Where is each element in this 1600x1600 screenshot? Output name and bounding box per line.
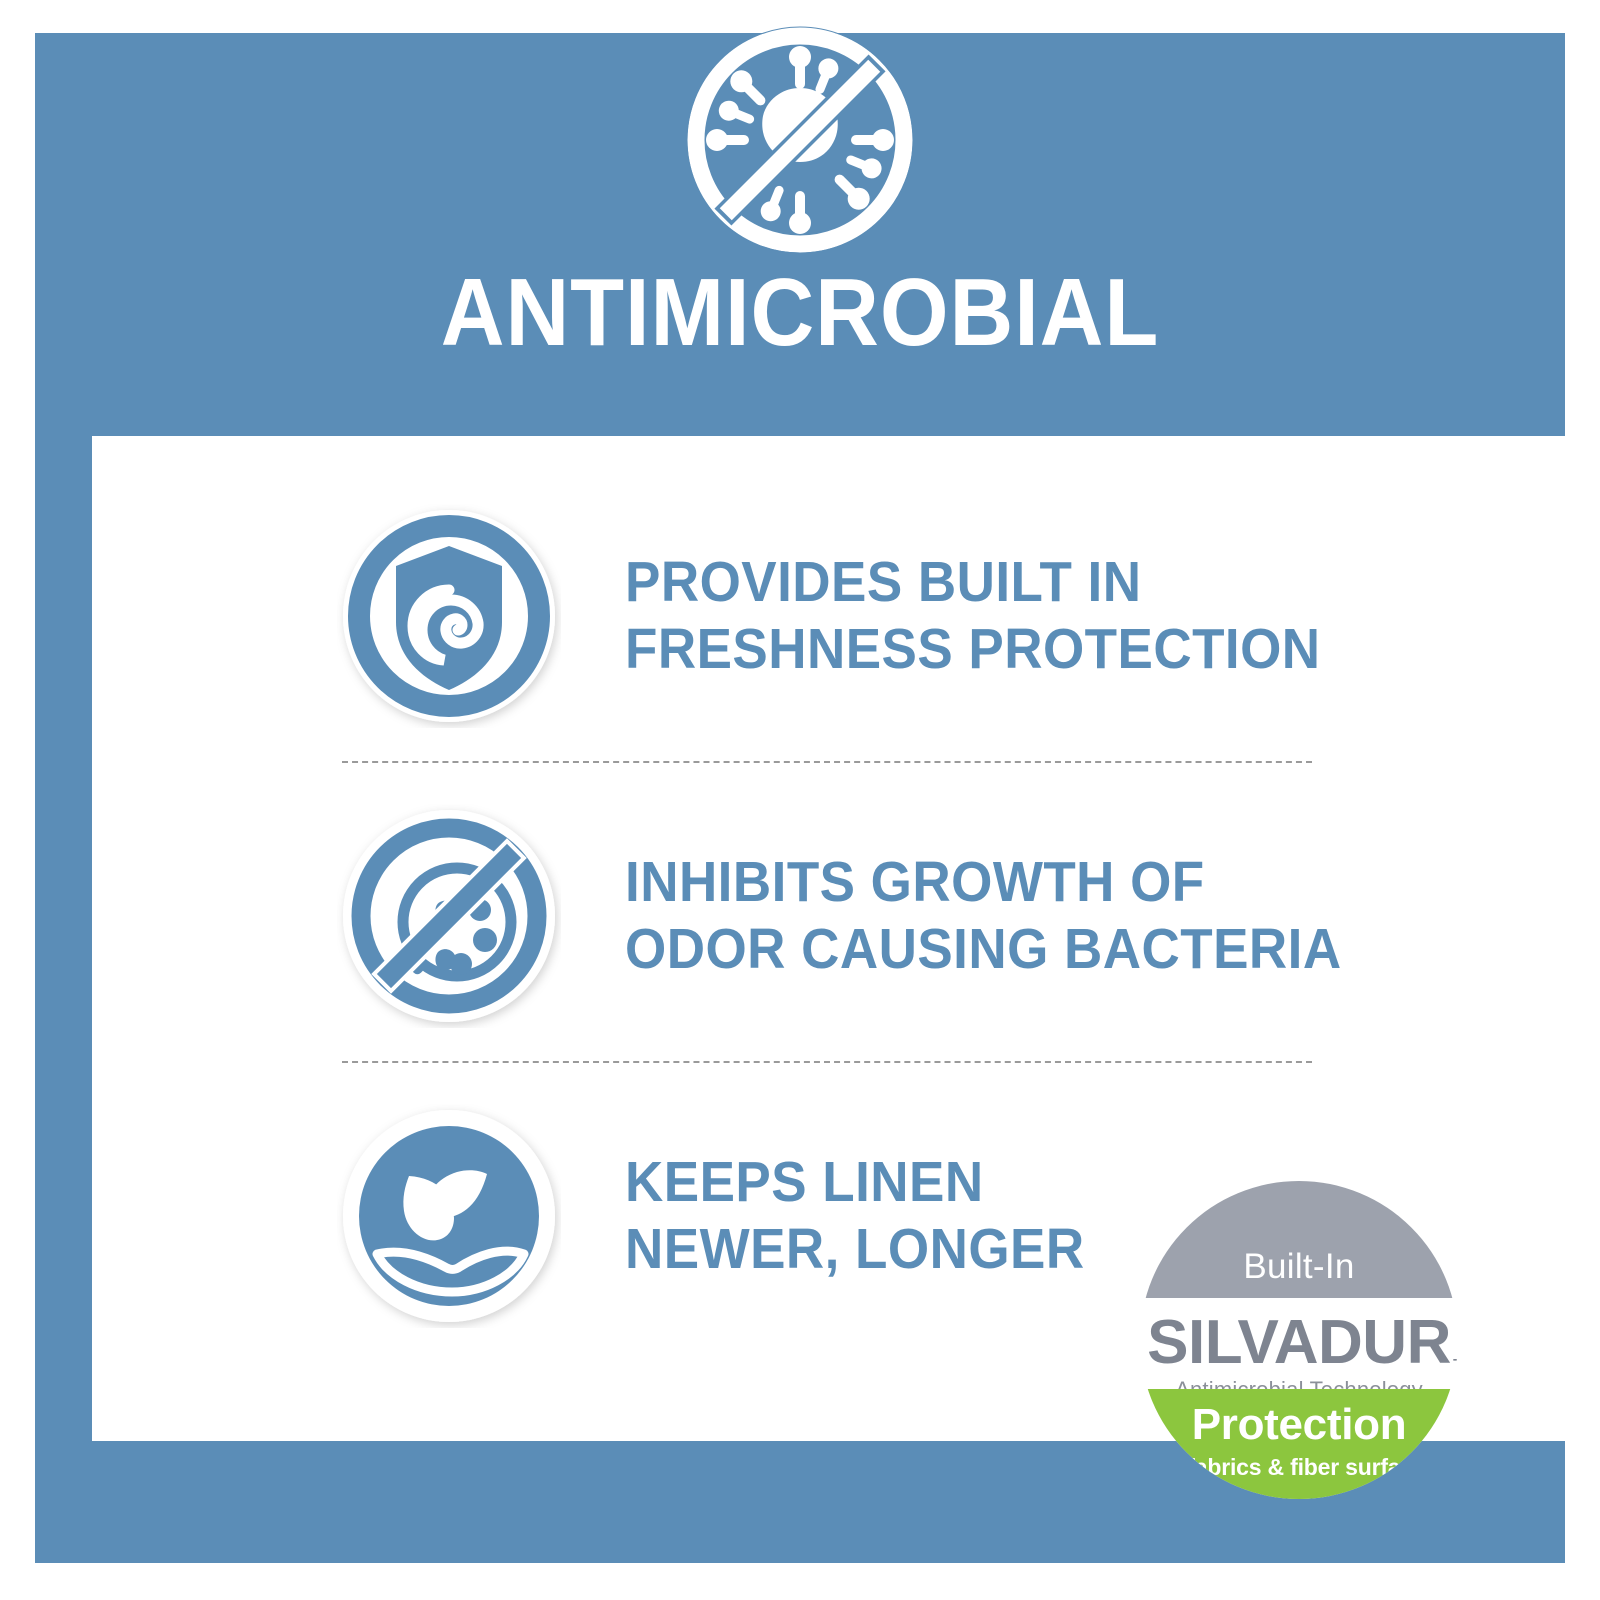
feature-row: INHIBITS GROWTH OF ODOR CAUSING BACTERIA xyxy=(92,781,1578,1051)
leaf-sprout-icon xyxy=(337,1104,561,1328)
feature-text-line1: PROVIDES BUILT IN xyxy=(625,549,1511,616)
no-germs-icon xyxy=(685,25,915,255)
logo-protection-subtitle: to fabrics & fiber surfaces xyxy=(1140,1456,1458,1479)
feature-text-line1: INHIBITS GROWTH OF xyxy=(625,849,1511,916)
logo-trademark: TM xyxy=(1453,1357,1458,1372)
page-title: ANTIMICROBIAL xyxy=(96,265,1504,361)
logo-protection-label: Protection xyxy=(1140,1389,1458,1447)
divider xyxy=(342,1061,1312,1063)
feature-text-line2: FRESHNESS PROTECTION xyxy=(625,616,1511,683)
no-bacteria-magnifier-icon xyxy=(337,804,561,1028)
logo-top-band: Built-In xyxy=(1140,1181,1458,1298)
feature-text-line2: ODOR CAUSING BACTERIA xyxy=(625,916,1511,983)
logo-middle-band: SILVADUR TM Antimicrobial Technology xyxy=(1140,1298,1458,1389)
feature-text: INHIBITS GROWTH OF ODOR CAUSING BACTERIA xyxy=(625,849,1511,982)
infographic-page: ANTIMICROBIAL xyxy=(0,0,1600,1600)
logo-bottom-band: Protection to fabrics & fiber surfaces xyxy=(1140,1389,1458,1499)
logo-built-in-label: Built-In xyxy=(1243,1249,1354,1298)
feature-text: PROVIDES BUILT IN FRESHNESS PROTECTION xyxy=(625,549,1511,682)
header: ANTIMICROBIAL xyxy=(35,33,1565,403)
content-card: PROVIDES BUILT IN FRESHNESS PROTECTION xyxy=(92,436,1578,1441)
shield-swirl-icon xyxy=(337,504,561,728)
feature-row: PROVIDES BUILT IN FRESHNESS PROTECTION xyxy=(92,481,1578,751)
logo-wordmark-text: SILVADUR xyxy=(1147,1308,1451,1377)
blue-panel: ANTIMICROBIAL xyxy=(35,33,1565,1563)
silvadur-logo: Built-In SILVADUR TM Antimicrobial Techn… xyxy=(1140,1181,1458,1499)
divider xyxy=(342,761,1312,763)
logo-wordmark: SILVADUR TM xyxy=(1147,1298,1451,1374)
